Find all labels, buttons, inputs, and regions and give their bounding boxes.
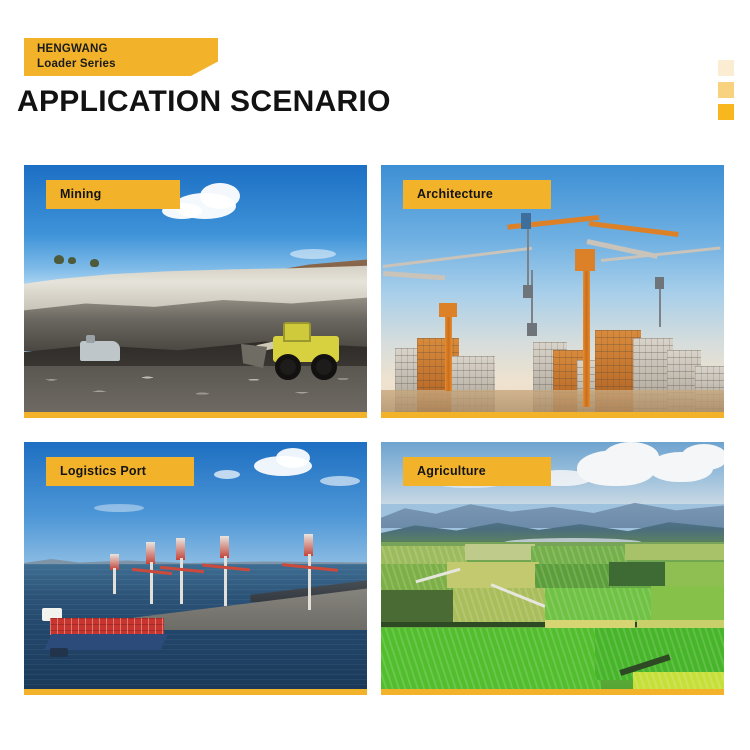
page-header: HENGWANG Loader Series APPLICATION SCENA… [0,0,750,150]
decorative-squares [718,60,734,126]
card-accent-bar-agriculture [381,689,724,695]
card-label-architecture: Architecture [403,180,551,209]
scenario-grid: Mining [24,165,724,695]
decorative-square-3 [718,104,734,120]
brand-tag: HENGWANG Loader Series [24,38,218,76]
card-label-agriculture: Agriculture [403,457,551,486]
scenario-card-architecture[interactable]: Architecture [381,165,724,418]
scenario-card-agriculture[interactable]: Agriculture [381,442,724,695]
page-title: APPLICATION SCENARIO [17,85,391,119]
scenario-card-logistics-port[interactable]: Logistics Port [24,442,367,695]
card-accent-bar-mining [24,412,367,418]
decorative-square-1 [718,60,734,76]
card-label-logistics-port: Logistics Port [46,457,194,486]
card-label-mining: Mining [46,180,180,209]
card-accent-bar-logistics-port [24,689,367,695]
brand-name: HENGWANG [37,42,218,57]
decorative-square-2 [718,82,734,98]
brand-series: Loader Series [37,57,218,72]
card-accent-bar-architecture [381,412,724,418]
scenario-card-mining[interactable]: Mining [24,165,367,418]
